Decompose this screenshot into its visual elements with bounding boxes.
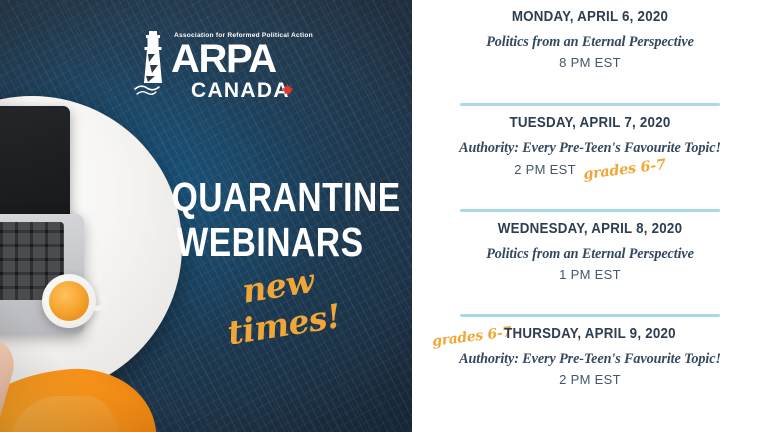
event-title: Politics from an Eternal Perspective [424,34,756,51]
divider-wrap [424,314,756,326]
event-time-row: 2 PM EST [424,372,756,387]
date-row: TUESDAY, APRIL 7, 2020 [424,115,756,131]
event-date: TUESDAY, APRIL 7, 2020 [437,115,742,131]
event-date: WEDNESDAY, APRIL 8, 2020 [437,221,742,237]
event-date: MONDAY, APRIL 6, 2020 [437,9,742,25]
arpa-logo: Association for Reformed Political Actio… [133,27,318,107]
event-grades-tag: grades 6-7 [582,156,666,183]
event-time-row: 2 PM EST grades 6-7 [424,161,756,178]
date-row: MONDAY, APRIL 6, 2020 [424,9,756,25]
section-divider [460,103,720,106]
schedule-entry: MONDAY, APRIL 6, 2020 Politics from an E… [424,9,756,115]
schedule-entry: WEDNESDAY, APRIL 8, 2020 Politics from a… [424,221,756,327]
left-visual-panel: Association for Reformed Political Actio… [0,0,412,432]
date-row: WEDNESDAY, APRIL 8, 2020 [424,221,756,237]
event-time-row: 8 PM EST [424,55,756,70]
event-date: THURSDAY, APRIL 9, 2020 [437,326,742,342]
event-title: Authority: Every Pre-Teen's Favourite To… [424,351,756,368]
event-time: 2 PM EST [514,162,576,177]
event-time-row: 1 PM EST [424,267,756,282]
event-title: Politics from an Eternal Perspective [424,246,756,263]
event-time: 1 PM EST [559,267,621,282]
lighthouse-icon [133,31,173,103]
headline-line-1: QUARANTINE [172,175,369,220]
section-divider [460,209,720,212]
schedule-entry: grades 6-7 THURSDAY, APRIL 9, 2020 Autho… [424,326,756,432]
event-time: 8 PM EST [559,55,621,70]
poster-headline: QUARANTINE WEBINARS [150,175,390,265]
schedule-panel: MONDAY, APRIL 6, 2020 Politics from an E… [412,0,768,432]
logo-country: CANADA [191,80,290,101]
logo-wordmark: ARPA [171,39,276,79]
maple-leaf-icon [281,83,294,97]
schedule-entry: TUESDAY, APRIL 7, 2020 Authority: Every … [424,115,756,221]
event-time: 2 PM EST [559,372,621,387]
section-divider [460,314,720,317]
event-title: Authority: Every Pre-Teen's Favourite To… [424,140,756,157]
divider-wrap [424,103,756,115]
divider-wrap [424,209,756,221]
date-row: grades 6-7 THURSDAY, APRIL 9, 2020 [424,326,756,342]
webinar-promo-poster: Association for Reformed Political Actio… [0,0,768,432]
